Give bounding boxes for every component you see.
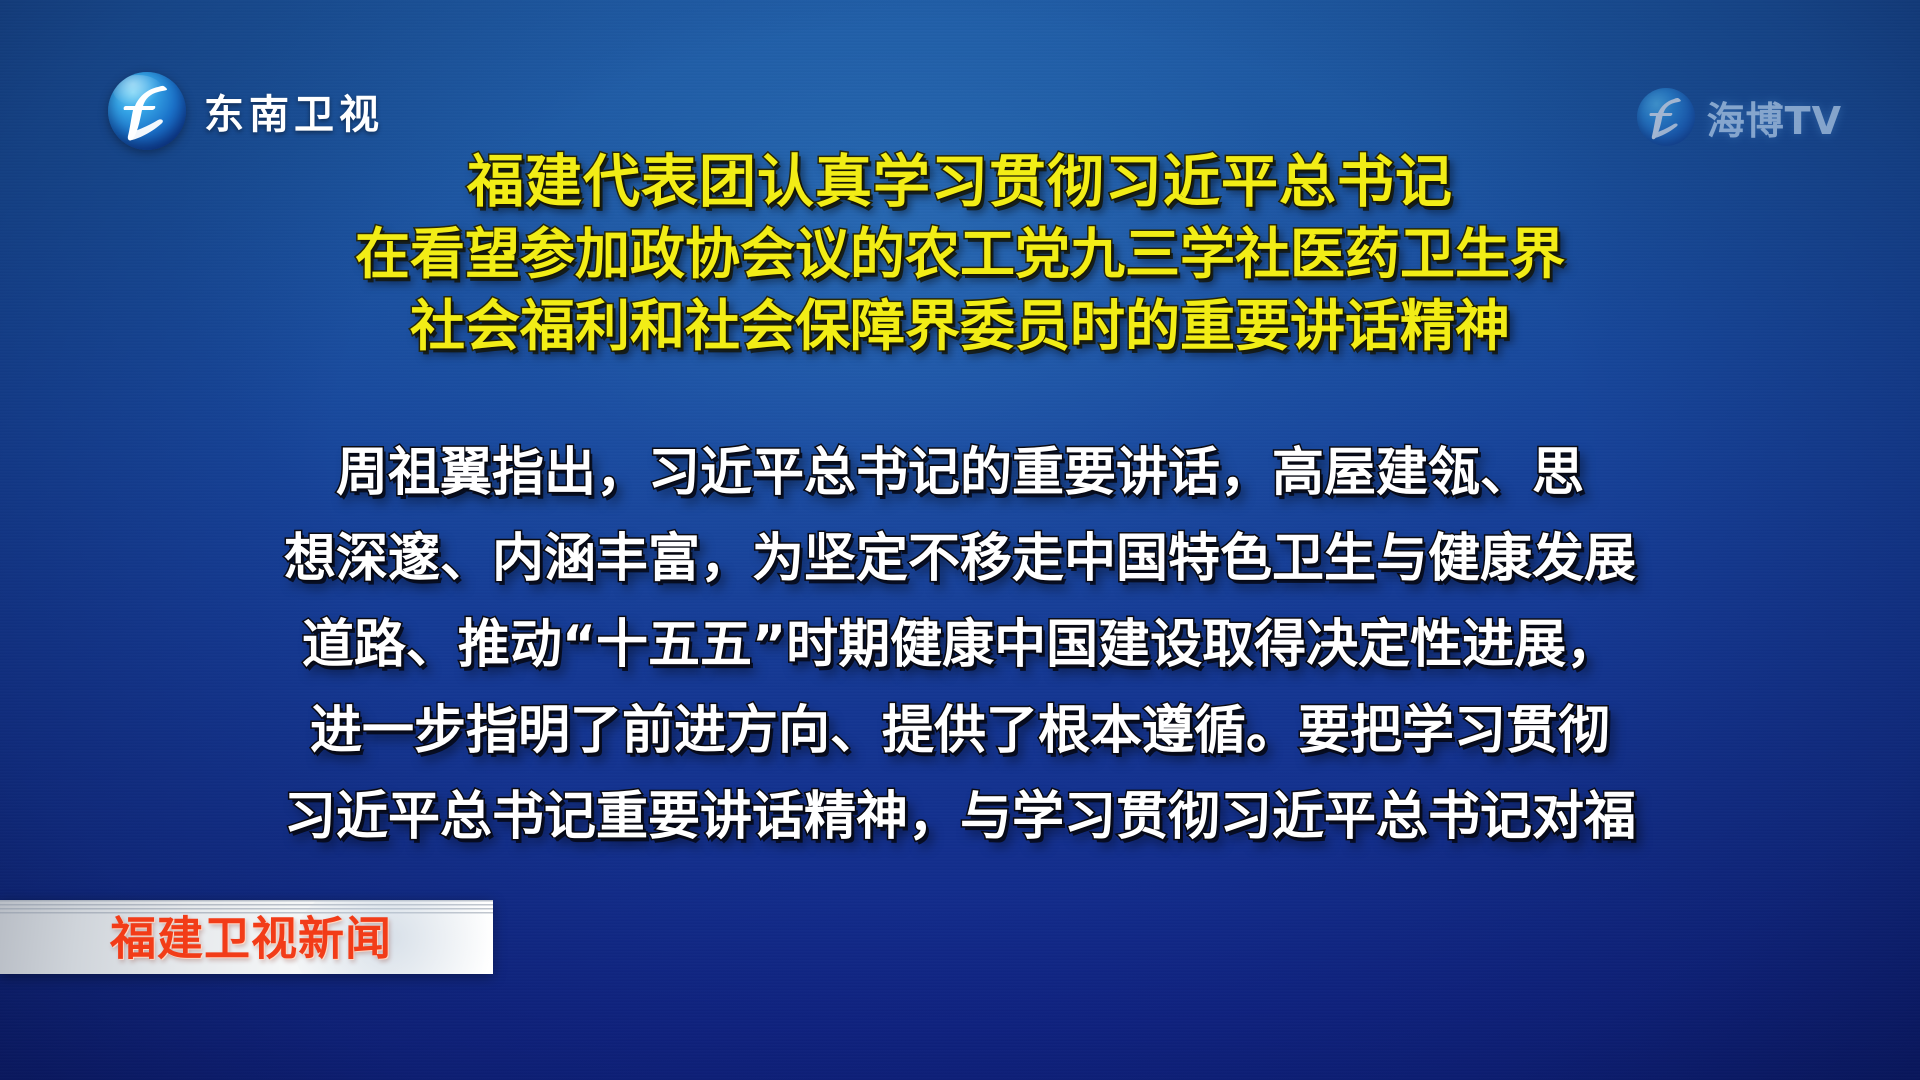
body-line-5: 习近平总书记重要讲话精神，与学习贯彻习近平总书记对福 <box>170 774 1750 860</box>
haibo-f-circle-icon <box>1637 88 1695 146</box>
body-line-4: 进一步指明了前进方向、提供了根本遵循。要把学习贯彻 <box>170 688 1750 774</box>
channel-logo-label: 东南卫视 <box>204 82 384 140</box>
channel-logo: 东南卫视 <box>108 72 384 150</box>
headline-line-3: 社会福利和社会保障界委员时的重要讲话精神 <box>60 290 1860 362</box>
haibo-tv-watermark: 海博TV <box>1637 88 1842 146</box>
program-banner-title: 福建卫视新闻 <box>110 903 392 969</box>
body-line-2: 想深邃、内涵丰富，为坚定不移走中国特色卫生与健康发展 <box>170 516 1750 602</box>
broadcast-screen: 东南卫视 海博TV 福建代表团认真学习贯彻习近平总书记 在看望参加政协会议的农工… <box>0 0 1920 1080</box>
body-line-1: 周祖翼指出，习近平总书记的重要讲话，高屋建瓴、思 <box>170 430 1750 516</box>
body-copy: 周祖翼指出，习近平总书记的重要讲话，高屋建瓴、思 想深邃、内涵丰富，为坚定不移走… <box>170 430 1750 860</box>
headline: 福建代表团认真学习贯彻习近平总书记 在看望参加政协会议的农工党九三学社医药卫生界… <box>0 146 1920 362</box>
body-line-3: 道路、推动“十五五”时期健康中国建设取得决定性进展， <box>170 602 1750 688</box>
headline-line-2: 在看望参加政协会议的农工党九三学社医药卫生界 <box>60 218 1860 290</box>
program-banner: 福建卫视新闻 <box>0 900 493 974</box>
fujian-f-circle-icon <box>108 72 186 150</box>
haibo-tv-label: 海博TV <box>1707 90 1842 145</box>
headline-line-1: 福建代表团认真学习贯彻习近平总书记 <box>60 146 1860 218</box>
